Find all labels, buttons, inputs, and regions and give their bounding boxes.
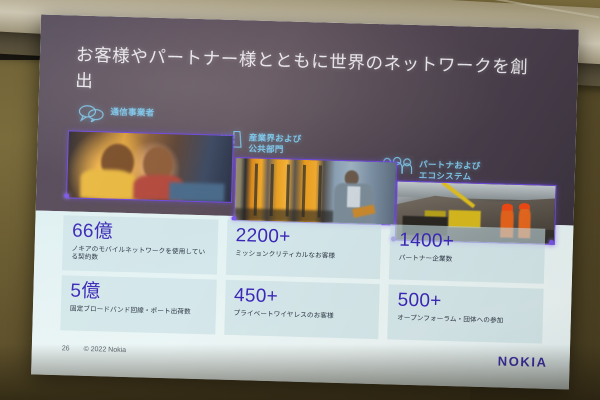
stat-value: 500+ [397, 291, 534, 315]
stat-value: 66億 [72, 222, 209, 246]
stat-value: 450+ [234, 286, 371, 310]
category-label-text: パートナおよび エコシステム [419, 157, 481, 182]
statistics-grid: 66億 ノキアのモバイルネットワークを使用している契約数 2200+ ミッション… [60, 215, 545, 343]
presentation-room: お客様やパートナー様とともに世界のネットワークを創出 通信事業者 [0, 0, 600, 400]
category-label-text: 通信事業者 [110, 105, 154, 119]
stat-card: 2200+ ミッションクリティカルなお客様 [226, 220, 382, 279]
presentation-slide: お客様やパートナー様とともに世界のネットワークを創出 通信事業者 [31, 15, 579, 390]
photo-industrial-worker [233, 157, 397, 225]
category-label-text: 産業界および 公共部門 [248, 130, 301, 155]
stat-label: パートナー企業数 [399, 254, 536, 266]
photo-telecom-consumers [66, 130, 234, 203]
stat-label: ミッションクリティカルなお客様 [235, 250, 372, 262]
stat-value: 5億 [70, 281, 207, 305]
stat-value: 1400+ [399, 231, 536, 255]
stat-label: ノキアのモバイルネットワークを使用している契約数 [71, 245, 208, 266]
stat-card: 66億 ノキアのモバイルネットワークを使用している契約数 [62, 215, 218, 274]
speech-bubbles-icon [78, 104, 104, 123]
stat-label: オープンフォーラム・団体への参加 [397, 314, 534, 326]
stat-card: 450+ プライベートワイヤレスのお客様 [224, 280, 380, 339]
room-floor-shadow [0, 344, 600, 400]
stat-value: 2200+ [235, 226, 372, 250]
stat-label: プライベートワイヤレスのお客様 [233, 310, 370, 322]
stat-label: 固定ブロードバンド回線・ポート出荷数 [70, 305, 207, 317]
projection-screen: お客様やパートナー様とともに世界のネットワークを創出 通信事業者 [31, 15, 579, 390]
stat-card: 5億 固定ブロードバンド回線・ポート出荷数 [60, 275, 216, 334]
stat-card: 500+ オープンフォーラム・団体への参加 [388, 284, 544, 343]
category-label-telecom: 通信事業者 [78, 104, 154, 124]
stat-card: 1400+ パートナー企業数 [389, 224, 545, 283]
